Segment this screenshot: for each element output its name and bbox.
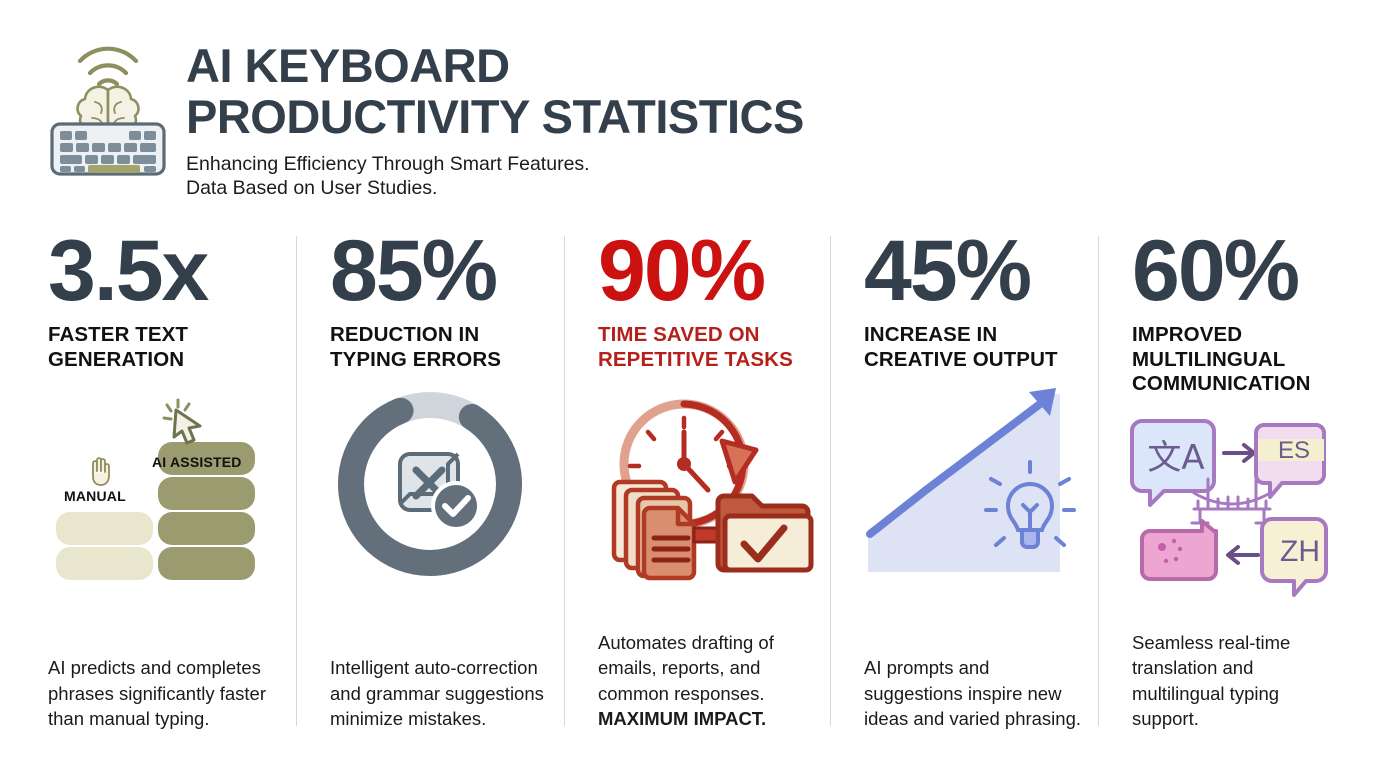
flag-bubble xyxy=(1142,521,1216,579)
stat-label: REDUCTION IN TYPING ERRORS xyxy=(330,323,546,372)
stat-description-text: Intelligent auto-correction and grammar … xyxy=(330,657,544,729)
bar-segment xyxy=(56,547,153,580)
automation-icon xyxy=(598,386,810,586)
stat-column-time-saved-on-repetitive-tasks: 90% TIME SAVED ON REPETITIVE TASKS xyxy=(564,236,830,726)
ai-keyboard-logo xyxy=(48,28,168,178)
stat-column-improved-multilingual-communication: 60% IMPROVED MULTILINGUAL COMMUNICATION … xyxy=(1098,236,1350,726)
stat-description-text: AI predicts and completes phrases signif… xyxy=(48,657,266,729)
target-language-text-es: ES xyxy=(1278,437,1310,464)
comparison-bars-illustration: MANUAL AI ASSISTED xyxy=(48,386,278,606)
stat-number: 3.5x xyxy=(48,232,278,311)
header: AI KEYBOARD PRODUCTIVITY STATISTICS Enha… xyxy=(48,28,804,200)
stat-description: Automates drafting of emails, reports, a… xyxy=(598,630,814,732)
stat-description: Seamless real-time translation and multi… xyxy=(1132,630,1334,732)
bar-segment xyxy=(158,477,255,510)
stat-description: AI prompts and suggestions inspire new i… xyxy=(864,655,1082,732)
translation-bubbles-illustration: 文A ES xyxy=(1132,413,1332,633)
manual-bar xyxy=(56,510,153,580)
donut-progress-illustration xyxy=(330,386,546,606)
folder-check-icon xyxy=(718,496,811,570)
bar-segment xyxy=(56,512,153,545)
page-title-line-1: AI KEYBOARD xyxy=(186,42,804,89)
target-language-bubble-es: ES xyxy=(1256,425,1324,497)
clock-documents-folder-illustration xyxy=(598,386,812,606)
stat-label: TIME SAVED ON REPETITIVE TASKS xyxy=(598,323,812,372)
stat-label: FASTER TEXT GENERATION xyxy=(48,323,278,372)
stats-columns: 3.5x FASTER TEXT GENERATION xyxy=(48,236,1331,726)
bar-segment xyxy=(158,512,255,545)
hand-icon xyxy=(86,454,116,486)
growth-arrow-lightbulb-illustration xyxy=(864,386,1080,606)
subtitle-line-2: Data Based on User Studies. xyxy=(186,176,804,200)
stat-number: 60% xyxy=(1132,232,1332,311)
translation-icon: 文A ES xyxy=(1132,413,1332,591)
arrow-left-icon xyxy=(1228,547,1258,563)
stat-number: 45% xyxy=(864,232,1080,311)
target-language-text-zh: ZH xyxy=(1280,535,1320,568)
source-language-bubble: 文A xyxy=(1132,421,1214,505)
arrow-right-icon xyxy=(1224,445,1254,461)
title-block: AI KEYBOARD PRODUCTIVITY STATISTICS Enha… xyxy=(186,28,804,200)
stat-number: 85% xyxy=(330,232,546,311)
stat-column-reduction-in-typing-errors: 85% REDUCTION IN TYPING ERRORS xyxy=(296,236,564,726)
documents-icon xyxy=(614,482,694,578)
donut-chart xyxy=(332,386,528,582)
target-language-bubble-zh: ZH xyxy=(1262,519,1326,595)
stat-description-text: AI prompts and suggestions inspire new i… xyxy=(864,657,1081,729)
check-badge-icon xyxy=(433,483,479,529)
page-title-line-2: PRODUCTIVITY STATISTICS xyxy=(186,93,804,140)
logo-svg xyxy=(48,28,168,178)
stat-column-faster-text-generation: 3.5x FASTER TEXT GENERATION xyxy=(48,236,296,726)
cursor-click-icon xyxy=(156,396,208,444)
subtitle-line-1: Enhancing Efficiency Through Smart Featu… xyxy=(186,152,804,176)
stat-label: IMPROVED MULTILINGUAL COMMUNICATION xyxy=(1132,323,1332,397)
stat-description: Intelligent auto-correction and grammar … xyxy=(330,655,548,732)
ai-assisted-bar-label: AI ASSISTED xyxy=(152,454,242,470)
stat-description-text: Seamless real-time translation and multi… xyxy=(1132,632,1290,730)
bar-segment xyxy=(158,547,255,580)
stat-label: INCREASE IN CREATIVE OUTPUT xyxy=(864,323,1080,372)
stat-description-text: Automates drafting of emails, reports, a… xyxy=(598,632,774,704)
stat-description-emphasis: MAXIMUM IMPACT. xyxy=(598,708,766,729)
infographic-page: AI KEYBOARD PRODUCTIVITY STATISTICS Enha… xyxy=(0,0,1376,768)
source-language-text: 文A xyxy=(1147,438,1204,478)
stat-number: 90% xyxy=(598,232,812,311)
stat-description: AI predicts and completes phrases signif… xyxy=(48,655,280,732)
manual-bar-label: MANUAL xyxy=(64,488,126,504)
stat-column-increase-in-creative-output: 45% INCREASE IN CREATIVE OUTPUT xyxy=(830,236,1098,726)
growth-area-chart xyxy=(864,386,1064,576)
